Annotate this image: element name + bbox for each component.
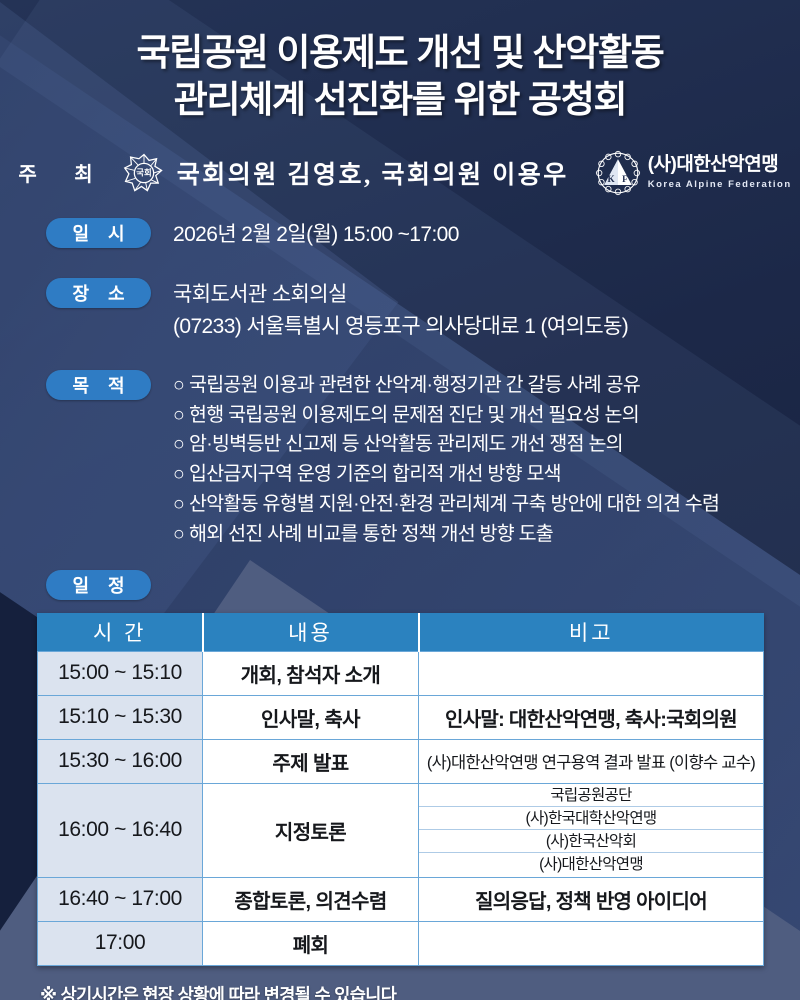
- cell-content: 폐회: [203, 921, 419, 965]
- cell-content: 주제 발표: [203, 739, 419, 783]
- poster-title: 국립공원 이용제도 개선 및 산악활동 관리체계 선진화를 위한 공청회: [0, 0, 800, 124]
- label-pill-place: 장 소: [46, 278, 151, 308]
- purpose-item: ○국립공원 이용과 관련한 산악계·행정기관 간 갈등 사례 공유: [173, 371, 719, 401]
- remarks-subitem: 국립공원공단: [419, 784, 763, 807]
- cell-remarks: [419, 921, 764, 965]
- purpose-item-text: 국립공원 이용과 관련한 산악계·행정기관 간 갈등 사례 공유: [189, 374, 640, 396]
- host-row: 주 최 국회 국회의원 김: [0, 150, 800, 196]
- alpine-mark-letter-f: F: [622, 174, 628, 184]
- host-label: 주 최: [14, 158, 108, 187]
- remarks-subitem: (사)한국대학산악연맹: [419, 807, 763, 830]
- cell-time: 16:40 ~ 17:00: [38, 877, 203, 921]
- cell-remarks: 질의응답, 정책 반영 아이디어: [419, 877, 764, 921]
- purpose-item-text: 산악활동 유형별 지원·안전·환경 관리체계 구축 방안에 대한 의견 수렴: [189, 493, 719, 515]
- alpine-federation-mark-icon: K F: [595, 150, 641, 196]
- purpose-bullet-icon: ○: [173, 374, 184, 396]
- label-pill-date: 일 시: [46, 218, 151, 248]
- purpose-item: ○산악활동 유형별 지원·안전·환경 관리체계 구축 방안에 대한 의견 수렴: [173, 490, 719, 520]
- remarks-subitem: (사)한국산악회: [419, 830, 763, 853]
- purpose-item: ○입산금지구역 운영 기준의 합리적 개선 방향 모색: [173, 460, 719, 490]
- purpose-bullet-icon: ○: [173, 404, 184, 426]
- host-names: 국회의원 김영호, 국회의원 이용우: [177, 155, 569, 191]
- cell-content: 개회, 참석자 소개: [203, 651, 419, 695]
- label-pill-purpose: 목 적: [46, 370, 151, 400]
- purpose-bullet-icon: ○: [173, 433, 184, 455]
- table-row: 16:00 ~ 16:40지정토론국립공원공단(사)한국대학산악연맹(사)한국산…: [38, 783, 764, 877]
- table-row: 15:00 ~ 15:10개회, 참석자 소개: [38, 651, 764, 695]
- cell-time: 15:30 ~ 16:00: [38, 739, 203, 783]
- purpose-item: ○현행 국립공원 이용제도의 문제점 진단 및 개선 필요성 논의: [173, 401, 719, 431]
- label-pill-schedule: 일 정: [46, 570, 151, 600]
- purpose-item-text: 해외 선진 사례 비교를 통한 정책 개선 방향 도출: [189, 523, 553, 545]
- table-row: 17:00폐회: [38, 921, 764, 965]
- info-section: 일 시 2026년 2월 2일(월) 15:00 ~17:00 장 소 국회도서…: [0, 218, 800, 550]
- purpose-item: ○해외 선진 사례 비교를 통한 정책 개선 방향 도출: [173, 520, 719, 550]
- cell-content: 종합토론, 의견수렴: [203, 877, 419, 921]
- table-row: 15:30 ~ 16:00주제 발표(사)대한산악연맹 연구용역 결과 발표 (…: [38, 739, 764, 783]
- remarks-subitem: (사)대한산악연맹: [419, 853, 763, 876]
- remarks-sublist: 국립공원공단(사)한국대학산악연맹(사)한국산악회(사)대한산악연맹: [419, 784, 763, 876]
- cell-content: 인사말, 축사: [203, 695, 419, 739]
- schedule-table: 시 간 내용 비고 15:00 ~ 15:10개회, 참석자 소개15:10 ~…: [37, 613, 764, 966]
- purpose-item-text: 암·빙벽등반 신고제 등 산악활동 관리제도 개선 쟁점 논의: [189, 433, 623, 455]
- title-line-2: 관리체계 선진화를 위한 공청회: [0, 77, 800, 124]
- column-header-content: 내용: [203, 613, 419, 651]
- footnotes: ※ 상기시간은 현장 상황에 따라 변경될 수 있습니다※ 실물 신분증 지참 …: [0, 982, 800, 1000]
- place-address: (07233) 서울특별시 영등포구 의사당대로 1 (여의도동): [173, 311, 628, 343]
- purpose-bullet-icon: ○: [173, 463, 184, 485]
- poster-content: 국립공원 이용제도 개선 및 산악활동 관리체계 선진화를 위한 공청회 주 최: [0, 0, 800, 1000]
- cell-remarks: [419, 651, 764, 695]
- column-header-remarks: 비고: [419, 613, 764, 651]
- purpose-list: ○국립공원 이용과 관련한 산악계·행정기관 간 갈등 사례 공유○현행 국립공…: [173, 370, 719, 550]
- cell-time: 17:00: [38, 921, 203, 965]
- korea-alpine-federation-logo: K F (사)대한산악연맹 Korea Alpine Federation: [595, 150, 792, 196]
- date-value: 2026년 2월 2일(월) 15:00 ~17:00: [173, 219, 459, 251]
- alpine-mark-letter-k: K: [607, 174, 615, 184]
- footnote-line: ※ 상기시간은 현장 상황에 따라 변경될 수 있습니다: [40, 982, 800, 1000]
- cell-remarks: 국립공원공단(사)한국대학산악연맹(사)한국산악회(사)대한산악연맹: [419, 783, 764, 877]
- federation-name-kr: (사)대한산악연맹: [648, 154, 779, 175]
- cell-time: 15:00 ~ 15:10: [38, 651, 203, 695]
- place-venue: 국회도서관 소회의실: [173, 279, 628, 311]
- cell-remarks: (사)대한산악연맹 연구용역 결과 발표 (이향수 교수): [419, 739, 764, 783]
- purpose-bullet-icon: ○: [173, 493, 184, 515]
- table-row: 16:40 ~ 17:00종합토론, 의견수렴질의응답, 정책 반영 아이디어: [38, 877, 764, 921]
- info-row-place: 장 소 국회도서관 소회의실 (07233) 서울특별시 영등포구 의사당대로 …: [0, 278, 800, 343]
- purpose-bullet-icon: ○: [173, 523, 184, 545]
- cell-remarks: 인사말: 대한산악연맹, 축사:국회의원: [419, 695, 764, 739]
- info-row-purpose: 목 적 ○국립공원 이용과 관련한 산악계·행정기관 간 갈등 사례 공유○현행…: [0, 370, 800, 550]
- cell-time: 15:10 ~ 15:30: [38, 695, 203, 739]
- title-line-1: 국립공원 이용제도 개선 및 산악활동: [0, 30, 800, 77]
- table-header-row: 시 간 내용 비고: [38, 613, 764, 651]
- schedule-table-wrap: 시 간 내용 비고 15:00 ~ 15:10개회, 참석자 소개15:10 ~…: [0, 613, 800, 966]
- national-assembly-emblem-icon: 국회: [123, 152, 165, 194]
- column-header-time: 시 간: [38, 613, 203, 651]
- purpose-item: ○암·빙벽등반 신고제 등 산악활동 관리제도 개선 쟁점 논의: [173, 430, 719, 460]
- schedule-header: 일 정: [0, 570, 800, 600]
- table-row: 15:10 ~ 15:30인사말, 축사인사말: 대한산악연맹, 축사:국회의원: [38, 695, 764, 739]
- purpose-item-text: 입산금지구역 운영 기준의 합리적 개선 방향 모색: [189, 463, 561, 485]
- poster-root: 국립공원 이용제도 개선 및 산악활동 관리체계 선진화를 위한 공청회 주 최: [0, 0, 800, 1000]
- purpose-item-text: 현행 국립공원 이용제도의 문제점 진단 및 개선 필요성 논의: [189, 404, 639, 426]
- cell-time: 16:00 ~ 16:40: [38, 783, 203, 877]
- cell-content: 지정토론: [203, 783, 419, 877]
- assembly-emblem-label: 국회: [136, 167, 151, 177]
- federation-name-en: Korea Alpine Federation: [648, 179, 792, 190]
- info-row-date: 일 시 2026년 2월 2일(월) 15:00 ~17:00: [0, 218, 800, 251]
